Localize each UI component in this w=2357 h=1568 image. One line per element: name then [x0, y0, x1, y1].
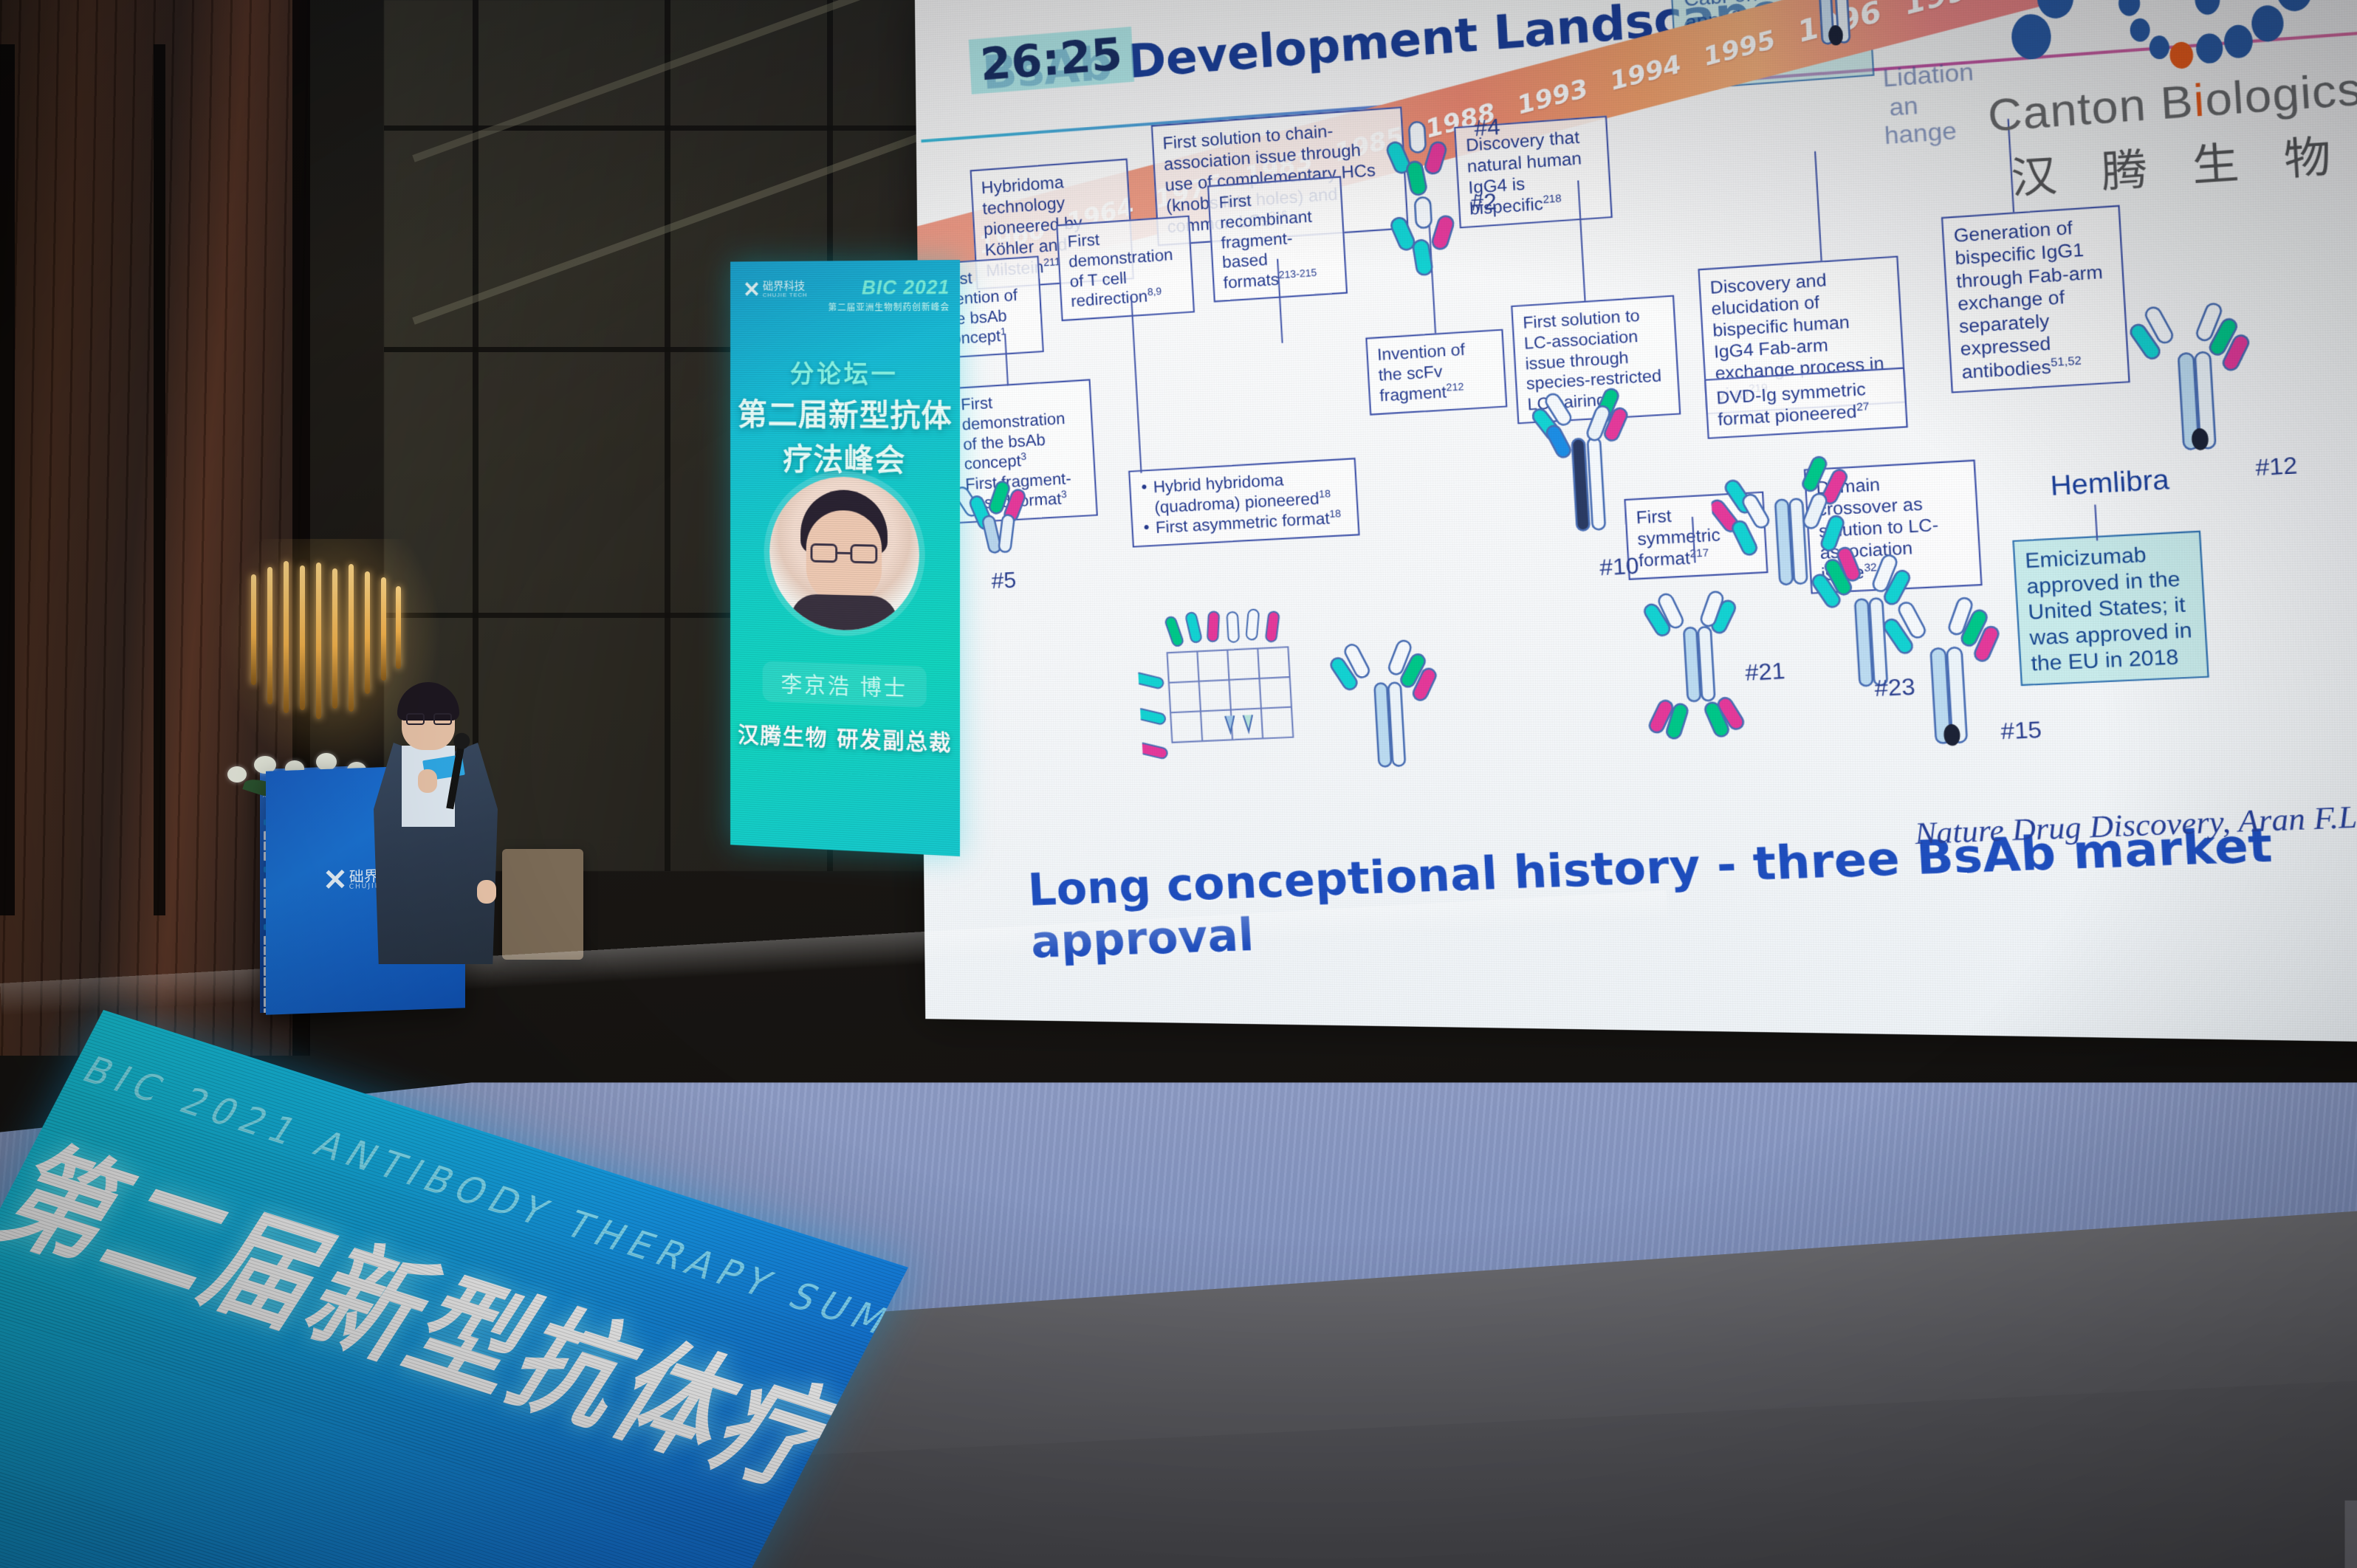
format-number-12: #12 — [2254, 453, 2298, 481]
antibody-icon-generic — [1318, 630, 1457, 788]
box-dvd-ig: DVD-Ig symmetric format pioneered27 — [1704, 367, 1908, 439]
event-code: BIC 2021 — [828, 276, 950, 300]
glasses-icon — [406, 713, 452, 725]
chair — [502, 849, 583, 960]
x-mark-icon: ✕ — [323, 863, 343, 898]
antibody-icon-11 — [1792, 0, 1877, 72]
format-number-5: #5 — [991, 568, 1017, 594]
quadroma-matrix-diagram — [1134, 599, 1318, 780]
conference-stage-scene: BsAb Development Landscape 26:25 CaDP if… — [0, 0, 2357, 1568]
slide-surface: BsAb Development Landscape 26:25 CaDP if… — [915, 0, 2357, 1044]
door-frame — [0, 44, 15, 915]
year-label: 1995 — [1700, 24, 1778, 71]
ghost-fragment-an: an — [1888, 92, 1918, 123]
event-subtitle: 第二届亚洲生物制药创新峰会 — [828, 300, 950, 313]
sponsor-logo: ✕ 础界科技 CHUJIE TECH — [743, 277, 808, 303]
box-igg1-fab-arm: Generation of bispecific IgG1 through Fa… — [1941, 205, 2130, 393]
box-t-cell-redirection: First demonstration of T cell redirectio… — [1056, 216, 1195, 321]
forum-label: 分论坛一 — [730, 354, 960, 391]
speaker-intro-led-banner: ✕ 础界科技 CHUJIE TECH BIC 2021 第二届亚洲生物制药创新峰… — [730, 260, 960, 856]
format-number-10: #10 — [1599, 554, 1639, 582]
connector-line — [2094, 505, 2098, 541]
format-number-4: #4 — [1474, 114, 1501, 142]
sponsor-logo-text: 础界科技 CHUJIE TECH — [763, 281, 808, 299]
led-presentation-screen: BsAb Development Landscape 26:25 CaDP if… — [915, 0, 2357, 1044]
format-number-2: #2 — [1470, 189, 1497, 216]
antibody-icon-12 — [2120, 288, 2264, 484]
bullet-item: First demonstration of the bsAb concept3 — [947, 388, 1085, 475]
box-scfv-fragment: Invention of the scFv fragment212 — [1365, 329, 1507, 416]
speaker-portrait — [769, 476, 919, 633]
speaker-organization: 汉腾生物 研发副总裁 — [730, 716, 960, 757]
canton-biologics-logo: Canton Biologics 汉 腾 生 物 — [1934, 0, 2357, 206]
box-emicizumab: Emicizumab approved in the United States… — [2012, 531, 2209, 686]
event-code-block: BIC 2021 第二届亚洲生物制药创新峰会 — [828, 276, 950, 313]
year-label: 1994 — [1607, 49, 1684, 96]
box-quadroma-bullets: Hybrid hybridoma (quadroma) pioneered18 … — [1128, 458, 1360, 548]
antibody-icon-10 — [1526, 376, 1638, 550]
window-mullion — [665, 0, 670, 871]
forum-title: 第二届新型抗体疗法峰会 — [730, 390, 960, 481]
antibody-icon-2 — [1387, 188, 1469, 284]
format-number-21: #21 — [1744, 659, 1785, 687]
connector-line — [1814, 151, 1822, 261]
speaker-name: 李京浩 博士 — [763, 661, 927, 707]
format-number-15: #15 — [2000, 717, 2042, 745]
antibody-icon-5 — [950, 470, 1051, 571]
x-mark-icon: ✕ — [743, 278, 758, 303]
presenter-person — [369, 687, 502, 1004]
connector-line — [1131, 296, 1142, 473]
antibody-icon-dvd-ig — [1708, 440, 1869, 610]
year-label: 1993 — [1514, 73, 1591, 120]
glasses-icon — [811, 543, 878, 564]
door-frame — [154, 44, 165, 915]
antibody-icon-15 — [1874, 585, 2015, 777]
